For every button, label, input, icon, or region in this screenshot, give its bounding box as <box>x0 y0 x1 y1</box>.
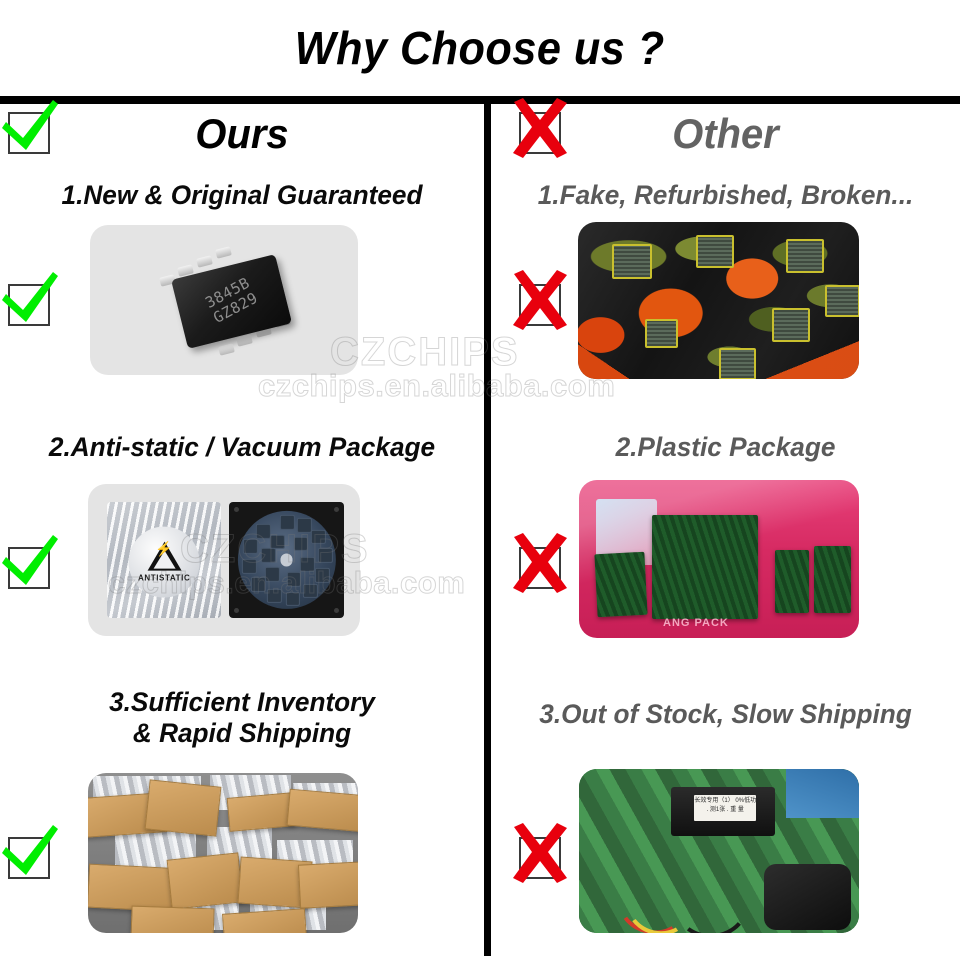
esd-label-disc: ⚡ ANTISTATIC <box>129 527 200 598</box>
check-mark-icon <box>0 533 62 595</box>
cross-mark-icon <box>507 270 573 332</box>
pack-text: ANG PACK <box>663 617 729 629</box>
photo-warehouse-cartons <box>88 773 358 933</box>
check-mark-icon <box>0 823 62 885</box>
module-label-text: 长效专用（1） 0%低功 . 测1张 . 重 量 <box>694 795 756 821</box>
column-ours: Ours 1.New & Original Guaranteed <box>0 104 484 960</box>
cross-box-row-3-other <box>519 837 561 879</box>
photo-scrap-chips-pile <box>578 222 859 379</box>
plastic-bag-illustration: ANG PACK <box>579 480 859 638</box>
infographic-page: Why Choose us ? Ours 1.New & Original Gu… <box>0 0 960 960</box>
row-1-heading-other: 1.Fake, Refurbished, Broken... <box>498 180 953 211</box>
column-header-other: Other <box>491 104 960 180</box>
photo-new-original-chip: 3845BGZ829 <box>90 225 358 375</box>
check-mark-icon <box>0 270 62 332</box>
check-box-row-3-ours <box>8 837 50 879</box>
title-bar: Why Choose us ? <box>0 0 960 96</box>
row-2-other: 2.Plastic Package ANG PACK <box>491 432 960 687</box>
column-label-ours: Ours <box>12 110 472 158</box>
row-1-ours: 1.New & Original Guaranteed <box>0 180 484 432</box>
cross-box-row-2-other <box>519 547 561 589</box>
row-1-other: 1.Fake, Refurbished, Broken... <box>491 180 960 432</box>
antistatic-label-text: ANTISTATIC <box>138 574 190 583</box>
check-box-row-1-ours <box>8 284 50 326</box>
scrap-chips-illustration <box>578 222 859 379</box>
pcb-scrap-illustration: 长效专用（1） 0%低功 . 测1张 . 重 量 <box>579 769 859 933</box>
pcb-module: 长效专用（1） 0%低功 . 测1张 . 重 量 <box>671 787 775 836</box>
row-1-heading-ours: 1.New & Original Guaranteed <box>7 180 476 211</box>
row-2-heading-other: 2.Plastic Package <box>498 432 953 463</box>
antistatic-bag: ⚡ ANTISTATIC <box>107 502 221 618</box>
row-2-ours: 2.Anti-static / Vacuum Package ⚡ ANTISTA… <box>0 432 484 687</box>
check-box-row-2-ours <box>8 547 50 589</box>
row-3-heading-ours: 3.Sufficient Inventory & Rapid Shipping <box>7 687 476 750</box>
column-header-ours: Ours <box>0 104 484 180</box>
lightning-bolt-icon: ⚡ <box>155 542 172 556</box>
tray-hub <box>280 554 293 567</box>
column-divider-vertical <box>484 104 491 956</box>
cross-mark-icon <box>507 823 573 885</box>
cross-box-row-1-other <box>519 284 561 326</box>
row-3-ours: 3.Sufficient Inventory & Rapid Shipping <box>0 687 484 960</box>
sky-background <box>786 769 859 818</box>
row-2-heading-ours: 2.Anti-static / Vacuum Package <box>7 432 476 463</box>
component-tray <box>229 502 343 618</box>
column-label-other: Other <box>503 110 949 158</box>
photo-antistatic-package: ⚡ ANTISTATIC <box>88 484 360 636</box>
header-divider-horizontal <box>0 96 960 104</box>
photo-plastic-package: ANG PACK <box>579 480 859 638</box>
row-3-other: 3.Out of Stock, Slow Shipping 长效专用（1） 0%… <box>491 687 960 960</box>
black-device <box>764 864 851 930</box>
row-3-heading-other: 3.Out of Stock, Slow Shipping <box>498 699 953 730</box>
photo-green-pcb-scrap: 长效专用（1） 0%低功 . 测1张 . 重 量 <box>579 769 859 933</box>
tray-reel <box>237 511 335 609</box>
chip-illustration: 3845BGZ829 <box>90 225 358 375</box>
column-other: Other 1.Fake, Refurbished, Broken... <box>491 104 960 960</box>
cartons-illustration <box>88 773 358 933</box>
chip-marking: 3845BGZ829 <box>203 274 261 327</box>
cross-mark-icon <box>507 533 573 595</box>
esd-warning-icon: ⚡ <box>147 542 181 571</box>
page-title: Why Choose us ? <box>295 21 665 75</box>
